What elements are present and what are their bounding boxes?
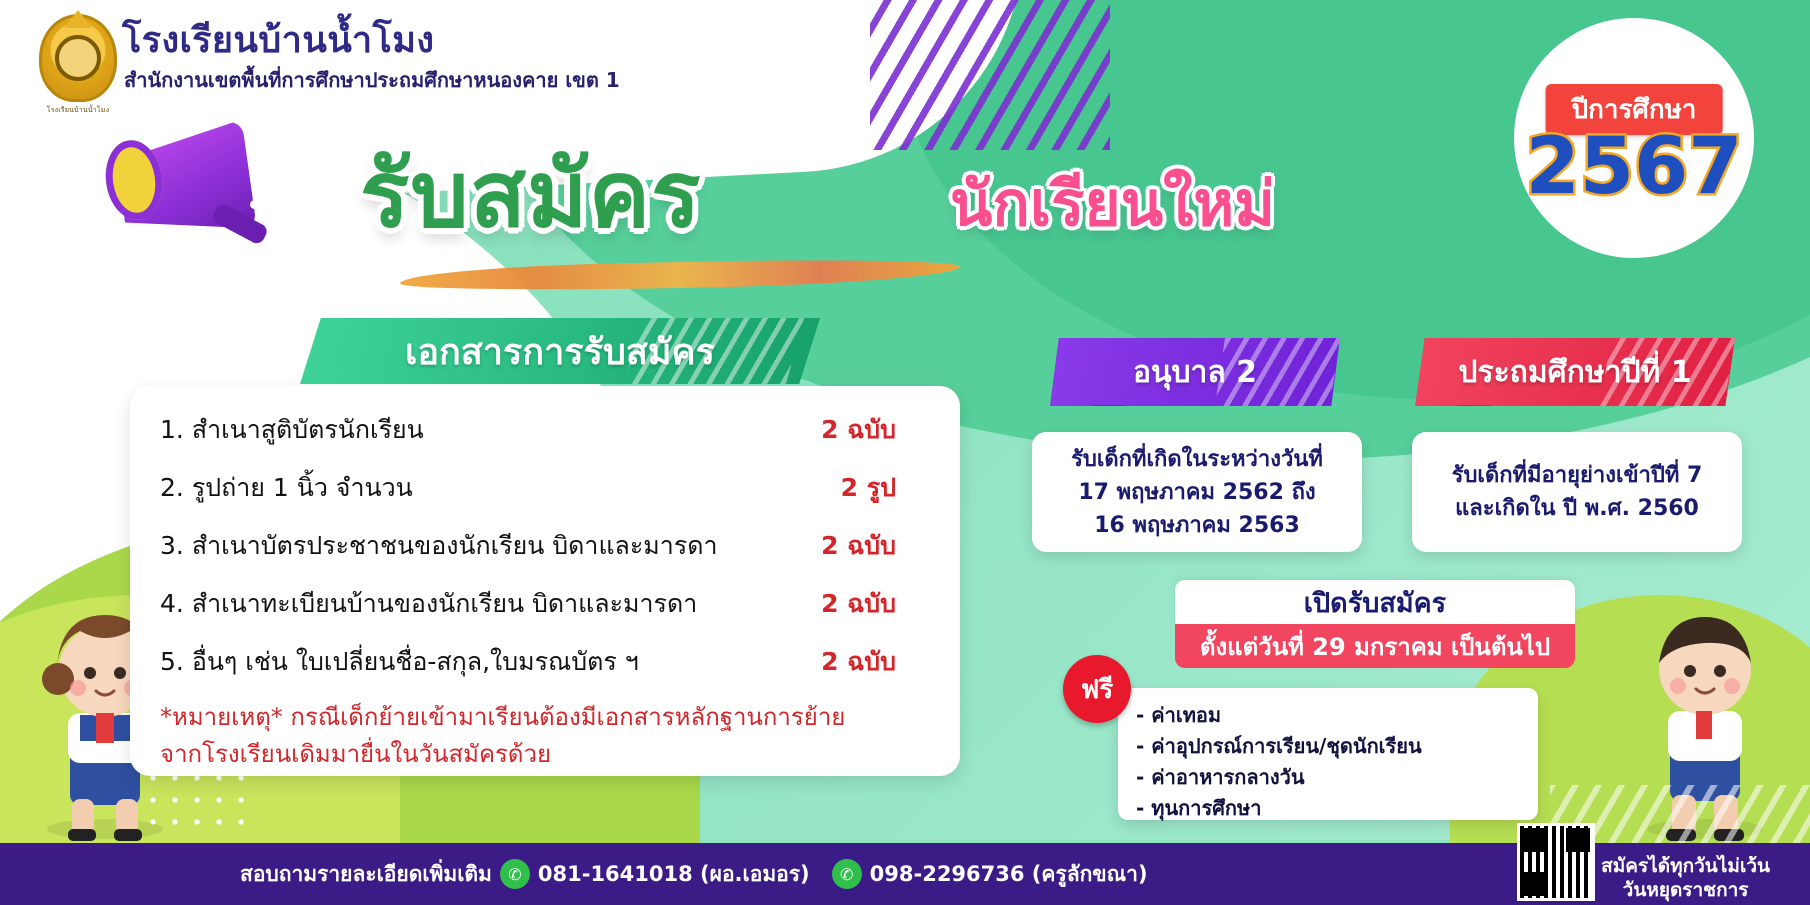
level-card-kindergarten: รับเด็กที่เกิดในระหว่างวันที่ 17 พฤษภาคม… <box>1032 432 1362 552</box>
megaphone-icon <box>100 118 330 258</box>
documents-note-line-1: *หมายเหตุ* กรณีเด็กย้ายเข้ามาเรียนต้องมี… <box>160 700 930 735</box>
megaphone-ray-2 <box>258 176 302 185</box>
document-item-5-number: 5. <box>160 647 184 676</box>
document-item-5: 5. อื่นๆ เช่น ใบเปลี่ยนชื่อ-สกุล,ใบมรณบั… <box>160 642 930 682</box>
document-item-4-qty: 2 ฉบับ <box>821 584 896 624</box>
level-tag-kindergarten-stripes <box>1215 338 1340 406</box>
open-registration-title: เปิดรับสมัคร <box>1175 580 1575 624</box>
free-item-2: - ค่าอุปกรณ์การเรียน/ชุดนักเรียน <box>1136 731 1520 762</box>
poster-subtitle: นักเรียนใหม่ <box>950 155 1275 253</box>
megaphone-ray-3 <box>250 200 306 209</box>
footer-right-line-2: วันหยุดราชการ <box>1601 878 1770 903</box>
phone-icon-2: ✆ <box>832 859 862 889</box>
document-item-2-number: 2. <box>160 473 184 502</box>
level-card-primary-line-1: รับเด็กที่มีอายุย่างเข้าปีที่ 7 <box>1452 459 1703 492</box>
documents-note-line-2: จากโรงเรียนเดิมมายื่นในวันสมัครด้วย <box>160 737 930 772</box>
document-item-1-text: สำเนาสูติบัตรนักเรียน <box>192 415 424 444</box>
footer-right-note: สมัครได้ทุกวันไม่เว้น วันหยุดราชการ <box>1601 854 1770 903</box>
footer-phone-2: 098-2296736 (ครูลักขณา) <box>870 858 1148 891</box>
document-item-3: 3. สำเนาบัตรประชาชนของนักเรียน บิดาและมา… <box>160 526 930 566</box>
open-registration-detail: ตั้งแต่วันที่ 29 มกราคม เป็นต้นไป <box>1175 624 1575 668</box>
poster-canvas: โรงเรียนบ้านน้ำโมง โรงเรียนบ้านน้ำโมง สำ… <box>0 0 1810 905</box>
year-badge-value: 2567 <box>1525 122 1742 212</box>
level-card-kindergarten-line-1: รับเด็กที่เกิดในระหว่างวันที่ <box>1071 443 1323 476</box>
seal-inner-ring <box>55 35 101 81</box>
footer-right-line-1: สมัครได้ทุกวันไม่เว้น <box>1601 854 1770 879</box>
year-badge: ปีการศึกษา 2567 <box>1514 18 1754 258</box>
documents-card: 1. สำเนาสูติบัตรนักเรียน 2 ฉบับ 2. รูปถ่… <box>130 386 960 776</box>
level-card-kindergarten-line-2: 17 พฤษภาคม 2562 ถึง <box>1078 476 1315 509</box>
free-item-3: - ค่าอาหารกลางวัน <box>1136 762 1520 793</box>
document-item-3-number: 3. <box>160 531 184 560</box>
document-item-1-number: 1. <box>160 415 184 444</box>
document-item-1: 1. สำเนาสูติบัตรนักเรียน 2 ฉบับ <box>160 410 930 450</box>
free-item-4: - ทุนการศึกษา <box>1136 793 1520 824</box>
phone-icon: ✆ <box>500 859 530 889</box>
school-office: สำนักงานเขตพื้นที่การศึกษาประถมศึกษาหนอง… <box>124 64 620 96</box>
document-item-4-number: 4. <box>160 589 184 618</box>
level-card-primary-line-2: และเกิดใน ปี พ.ศ. 2560 <box>1455 492 1699 525</box>
school-name: โรงเรียนบ้านน้ำโมง <box>122 22 434 60</box>
document-item-2-text: รูปถ่าย 1 นิ้ว จำนวน <box>192 473 413 502</box>
level-card-primary: รับเด็กที่มีอายุย่างเข้าปีที่ 7 และเกิดใ… <box>1412 432 1742 552</box>
poster-title: รับสมัคร <box>360 120 702 267</box>
document-item-2: 2. รูปถ่าย 1 นิ้ว จำนวน 2 รูป <box>160 468 930 508</box>
megaphone-ray-1 <box>250 152 306 161</box>
school-seal-icon <box>39 14 117 102</box>
document-item-3-qty: 2 ฉบับ <box>821 526 896 566</box>
document-item-3-text: สำเนาบัตรประชาชนของนักเรียน บิดาและมารดา <box>192 531 718 560</box>
qr-code-icon[interactable] <box>1517 823 1595 901</box>
free-items-card: - ค่าเทอม - ค่าอุปกรณ์การเรียน/ชุดนักเรี… <box>1118 688 1538 820</box>
decorative-stripes-top <box>870 0 1110 150</box>
level-tag-primary-stripes <box>1600 338 1735 406</box>
school-logo: โรงเรียนบ้านน้ำโมง <box>28 14 128 134</box>
document-item-4: 4. สำเนาทะเบียนบ้านของนักเรียน บิดาและมา… <box>160 584 930 624</box>
footer-phone-1: 081-1641018 (ผอ.เอมอร) <box>538 858 810 891</box>
free-badge: ฟรี <box>1063 655 1131 723</box>
level-card-kindergarten-line-3: 16 พฤษภาคม 2563 <box>1094 509 1300 542</box>
document-item-2-qty: 2 รูป <box>841 468 896 508</box>
document-item-5-text: อื่นๆ เช่น ใบเปลี่ยนชื่อ-สกุล,ใบมรณบัตร … <box>192 647 639 676</box>
documents-banner-stripes <box>624 318 804 384</box>
document-item-5-qty: 2 ฉบับ <box>821 642 896 682</box>
free-item-1: - ค่าเทอม <box>1136 700 1520 731</box>
document-item-1-qty: 2 ฉบับ <box>821 410 896 450</box>
document-item-4-text: สำเนาทะเบียนบ้านของนักเรียน บิดาและมารดา <box>192 589 697 618</box>
logo-caption: โรงเรียนบ้านน้ำโมง <box>47 105 109 116</box>
footer-contact-label: สอบถามรายละเอียดเพิ่มเติม <box>240 858 492 891</box>
